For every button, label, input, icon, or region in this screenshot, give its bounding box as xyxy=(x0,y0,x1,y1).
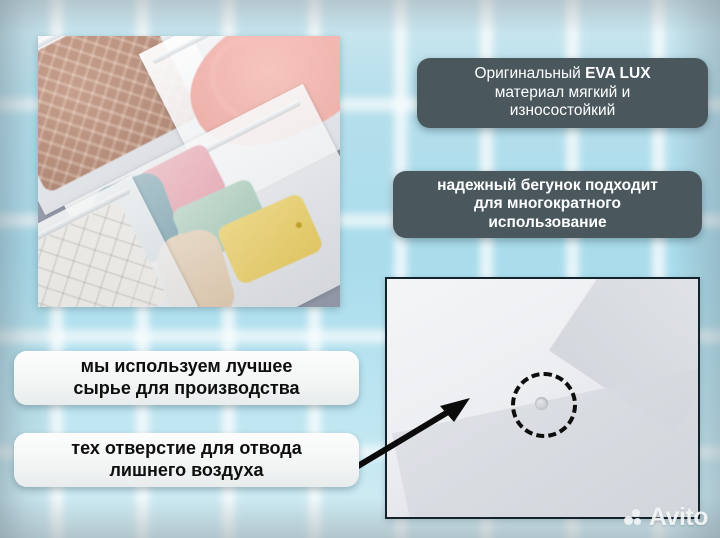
detail-photo-vent-hole xyxy=(385,277,700,519)
callout-raw-material: мы используем лучшее сырье для производс… xyxy=(14,351,359,405)
callout-vent-hole: тех отверстие для отвода лишнего воздуха xyxy=(14,433,359,487)
callout-material: Оригинальный EVA LUX материал мягкий и и… xyxy=(417,58,708,128)
callout-material-line1-prefix: Оригинальный xyxy=(474,65,585,82)
callout-zipper-line1: надежный бегунок подходит xyxy=(437,177,658,196)
callout-material-brand: EVA LUX xyxy=(585,65,650,82)
photo-haze-overlay xyxy=(38,36,340,307)
callout-zipper-line2: для многократного xyxy=(437,195,658,214)
callout-zipper: надежный бегунок подходит для многократн… xyxy=(393,171,702,238)
product-photo-zip-bags xyxy=(38,36,340,307)
callout-raw-line2: сырье для производства xyxy=(73,378,299,400)
callout-vent-line1: тех отверстие для отвода xyxy=(71,438,301,460)
callout-material-line2: материал мягкий и xyxy=(474,84,650,103)
callout-material-line3: износостойкий xyxy=(474,102,650,121)
avito-watermark: Avito xyxy=(624,505,708,530)
callout-vent-line2: лишнего воздуха xyxy=(71,460,301,482)
callout-raw-line1: мы используем лучшее xyxy=(73,356,299,378)
callout-zipper-line3: использование xyxy=(437,214,658,233)
avito-wordmark: Avito xyxy=(649,505,708,530)
avito-dots-icon xyxy=(624,509,644,526)
dashed-circle-highlight xyxy=(511,372,577,438)
advertisement-image: Оригинальный EVA LUX материал мягкий и и… xyxy=(0,0,720,538)
